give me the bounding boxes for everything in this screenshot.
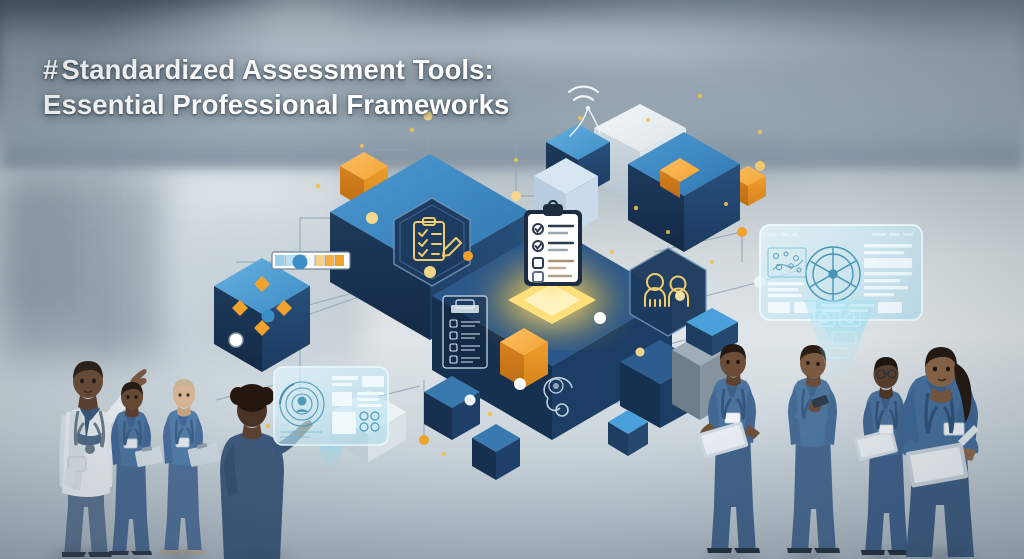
nurse-with-clipboard-2 — [147, 366, 213, 559]
hash-symbol: # — [43, 54, 58, 85]
holo-projection-phone — [796, 300, 884, 376]
title-line-1: Standardized Assessment Tools: — [61, 54, 493, 85]
title-line-2: Essential Professional Frameworks — [43, 87, 509, 122]
nurse-writing-notes — [888, 327, 998, 559]
nurse-with-tablet-1 — [692, 331, 770, 559]
holo-dashboard-left — [272, 364, 390, 446]
banner-title: #Standardized Assessment Tools: Essentia… — [43, 52, 509, 122]
banner-image: #Standardized Assessment Tools: Essentia… — [0, 0, 1024, 559]
